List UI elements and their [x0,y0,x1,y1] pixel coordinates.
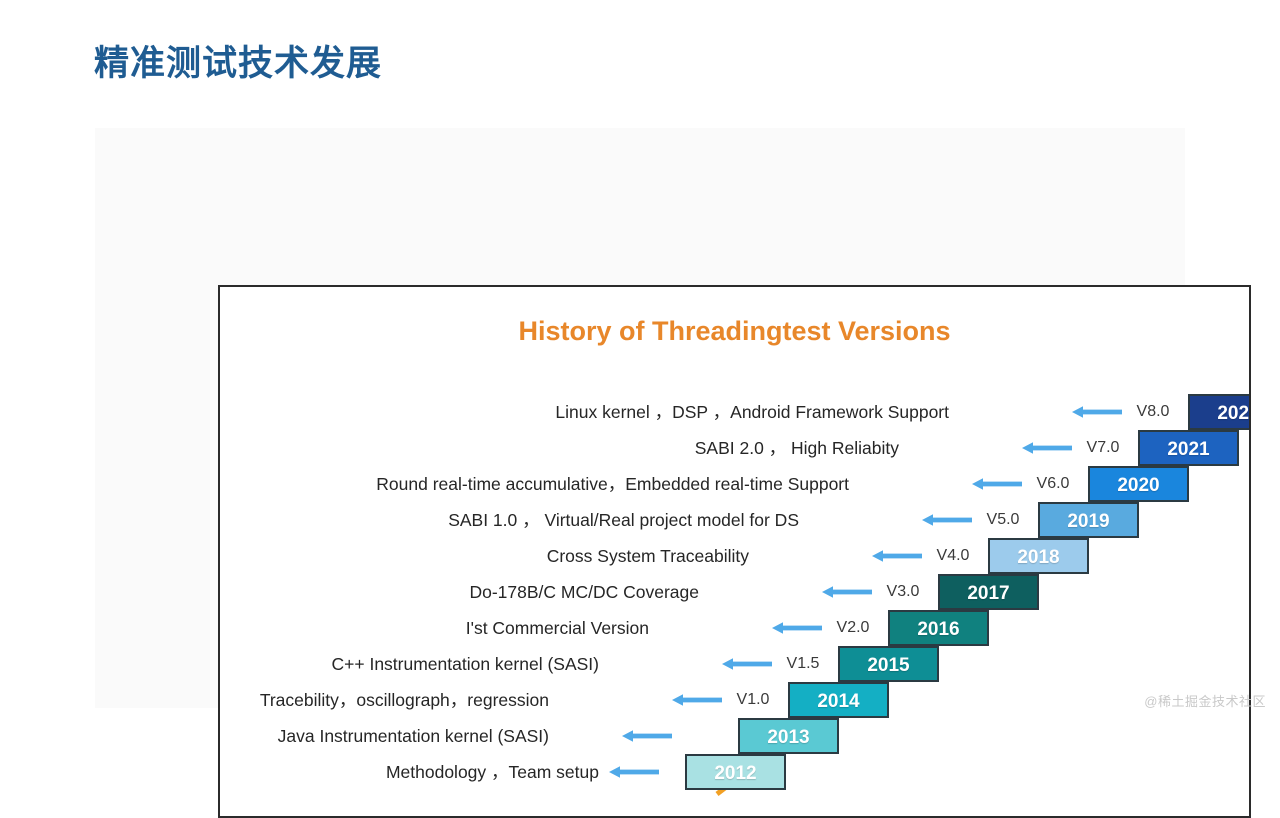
left-arrow-icon [922,513,972,527]
year-box: 2019 [1038,502,1139,538]
timeline-row: Methodology ，Team setup2012 [220,754,1251,790]
left-arrow-icon [722,657,772,671]
version-label: V8.0 [1130,394,1176,430]
year-box: 2020 [1088,466,1189,502]
version-label: V1.0 [730,682,776,718]
timeline-row: Do-178B/C MC/DC CoverageV3.02017 [220,574,1251,610]
year-box: 2016 [888,610,989,646]
left-arrow-icon [1072,405,1122,419]
figure-panel: History of Threadingtest Versions Linux … [95,128,1185,708]
timeline-description: SABI 1.0 ， Virtual/Real project model fo… [448,502,799,538]
timeline-description: SABI 2.0 ， High Reliabity [695,430,899,466]
version-label: V5.0 [980,502,1026,538]
timeline-description: I'st Commercial Version [466,610,649,646]
left-arrow-icon [609,765,659,779]
left-arrow-icon [822,585,872,599]
left-arrow-icon [872,549,922,563]
timeline-row: I'st Commercial VersionV2.02016 [220,610,1251,646]
timeline-row: Cross System TraceabilityV4.02018 [220,538,1251,574]
page-title: 精准测试技术发展 [94,35,382,86]
timeline-description: Cross System Traceability [547,538,749,574]
timeline-description: Do-178B/C MC/DC Coverage [469,574,699,610]
figure-title: History of Threadingtest Versions [220,316,1249,347]
year-box: 2017 [938,574,1039,610]
year-box: 2021 [1138,430,1239,466]
left-arrow-icon [772,621,822,635]
year-box: 2013 [738,718,839,754]
version-label: V2.0 [830,610,876,646]
version-label: V3.0 [880,574,926,610]
timeline-description: Methodology ，Team setup [386,754,599,790]
timeline-row: SABI 2.0 ， High ReliabityV7.02021 [220,430,1251,466]
version-label: V6.0 [1030,466,1076,502]
timeline-row: Java Instrumentation kernel (SASI)2013 [220,718,1251,754]
year-box: 2018 [988,538,1089,574]
version-label: V1.5 [780,646,826,682]
slide-canvas: 精准测试技术发展 History of Threadingtest Versio… [0,0,1280,720]
timeline-row: Linux kernel ，DSP ，Android Framework Sup… [220,394,1251,430]
year-box: 2015 [838,646,939,682]
timeline-description: Round real-time accumulative，Embedded re… [376,466,849,502]
timeline-row: C++ Instrumentation kernel (SASI)V1.5201… [220,646,1251,682]
year-box: 2014 [788,682,889,718]
version-label: V4.0 [930,538,976,574]
left-arrow-icon [1022,441,1072,455]
timeline-description: Linux kernel ，DSP ，Android Framework Sup… [555,394,949,430]
timeline-description: Tracebility，oscillograph，regression [260,682,549,718]
watermark: @稀土掘金技术社区 [1144,691,1266,710]
figure-frame: History of Threadingtest Versions Linux … [218,285,1251,818]
timeline-description: Java Instrumentation kernel (SASI) [278,718,549,754]
version-label: V7.0 [1080,430,1126,466]
left-arrow-icon [622,729,672,743]
timeline-row: Round real-time accumulative，Embedded re… [220,466,1251,502]
year-box: 2022 [1188,394,1251,430]
timeline-description: C++ Instrumentation kernel (SASI) [332,646,599,682]
left-arrow-icon [972,477,1022,491]
year-box: 2012 [685,754,786,790]
left-arrow-icon [672,693,722,707]
timeline-row: Tracebility，oscillograph，regressionV1.02… [220,682,1251,718]
timeline-row: SABI 1.0 ， Virtual/Real project model fo… [220,502,1251,538]
